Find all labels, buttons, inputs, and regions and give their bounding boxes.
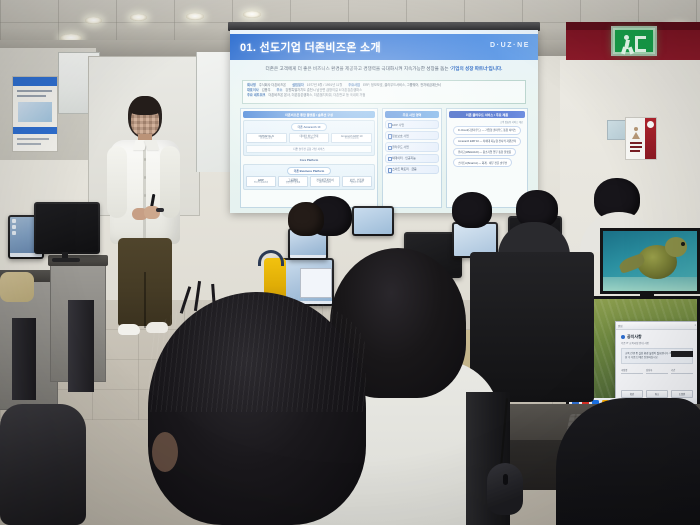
- ceiling-downlight: [85, 17, 102, 24]
- pill-sub: 전사적 자원관리: [332, 138, 371, 141]
- monitor-back-left-2: [34, 202, 100, 254]
- projection-screen: 01. 선도기업 더존비즈온 소개 D·UZ·NE 더존은 고객에게 더 좋은 …: [230, 30, 538, 213]
- douzone-logo: D·UZ·NE: [490, 42, 530, 49]
- panel-business-header: 주요 사업 영역: [385, 111, 439, 118]
- monitor-base: [52, 258, 80, 262]
- shirt-button: [144, 194, 147, 197]
- panel-cloud-header: 더존 클라우드 서비스 / 주요 제품: [449, 111, 525, 118]
- cloud-product-bubble: Amaranth ERP 10 — 차세대 지능형 전사적 자원관리: [453, 137, 521, 146]
- exit-icon: [615, 30, 653, 52]
- poster-text-line: [17, 95, 46, 97]
- dialog-heading: 공지사항: [621, 334, 698, 340]
- business-area-item: 클라우드 사업: [385, 142, 439, 151]
- company-info-table: 회사명 주식회사 더존비즈온 설립일자 1977년 8월 / 1991년 11월…: [242, 80, 526, 104]
- business-platform-group: 더존 Business Platform ERP 전사적 자원관리 그룹웨어 협…: [243, 164, 375, 190]
- presenter-right-arm: [160, 146, 180, 218]
- ceiling-downlight: [130, 14, 147, 21]
- presenter-wristwatch: [156, 208, 164, 212]
- poster-figure-head: [634, 127, 638, 131]
- platform-pill: 데이터 허브 연계 데이터 통합: [289, 133, 330, 144]
- hair-texture: [148, 292, 366, 412]
- info-cell: 주요 네트워크 더존비즈온 본사, 더존강촌캠퍼스, 더존을지타워, 더존판교 …: [247, 93, 365, 98]
- platform-core-oval: 더존 Amaranth 10: [291, 123, 328, 131]
- turtle-eye: [681, 242, 685, 246]
- poster-header-band: [13, 77, 57, 86]
- pill-sub: 데이터 통합: [290, 138, 329, 141]
- turtle-head: [665, 237, 687, 257]
- platform-pill: OMNIEYE AI 인공지능 분석: [246, 133, 287, 144]
- monitor-mid-6: [352, 206, 394, 236]
- business-pill: 그룹웨어 협업 업무 플랫폼: [278, 176, 308, 187]
- business-area-item: 스마트 팩토리 · 금융: [385, 165, 439, 174]
- poster-text-line: [630, 150, 640, 152]
- ceiling-downlight: [186, 13, 204, 20]
- dialog-field-row: 과정명 담당자 기간: [621, 368, 693, 374]
- student-head: [288, 202, 324, 236]
- slide-panels: 더존비즈온 통합 플랫폼 / 솔루션 구성 더존 Amaranth 10 OMN…: [240, 108, 528, 208]
- business-area-item: ERP 사업: [385, 120, 439, 129]
- business-area-item: 빅데이터 · 인공지능: [385, 154, 439, 163]
- dialog-title-text: 알림: [618, 324, 622, 328]
- dialog-button-row: 확인 취소 도움말: [621, 390, 693, 398]
- poster-logo-dot: [647, 121, 654, 128]
- poster-text-line: [17, 138, 49, 140]
- dialog-field: 담당자: [646, 368, 668, 374]
- dialog-help-button[interactable]: 도움말: [671, 390, 693, 398]
- dialog-field: 과정명: [621, 368, 643, 374]
- dialog-confirm-button[interactable]: 확인: [621, 390, 643, 398]
- info-key: 주요 네트워크: [247, 93, 265, 98]
- poster-text-line: [630, 146, 642, 148]
- cloud-arrow-note: 고객 맞춤형 서비스 제공: [449, 120, 525, 124]
- desktop-icon[interactable]: [12, 225, 16, 229]
- pill-sub: 인공지능 분석: [247, 138, 286, 141]
- platform-core-group: 더존 Amaranth 10 OMNIEYE AI 인공지능 분석 데이터 허브…: [243, 120, 375, 156]
- monitor-screen: [36, 204, 98, 252]
- business-pill-row: ERP 전사적 자원관리 그룹웨어 협업 업무 플랫폼 전자세금계산서 세무 전…: [246, 176, 372, 187]
- computer-mouse[interactable]: [487, 463, 523, 515]
- pill-sub: 협업 업무 플랫폼: [279, 182, 307, 185]
- platform-pill: Amaranth ERP 10 전사적 자원관리: [331, 133, 372, 144]
- business-platform-oval: 더존 Business Platform: [287, 167, 331, 175]
- desktop-icon-group: [12, 219, 16, 235]
- pc-tower: [68, 300, 94, 392]
- monitor-turtle-wallpaper: [600, 228, 700, 294]
- ear: [152, 432, 178, 472]
- close-icon[interactable]: ×: [695, 324, 696, 327]
- info-row: 주요 네트워크 더존비즈온 본사, 더존강촌캠퍼스, 더존을지타워, 더존판교 …: [247, 93, 521, 98]
- shirt-button: [144, 158, 147, 161]
- poster-text-line: [630, 142, 642, 144]
- dialog-titlebar: 알림 ×: [616, 322, 698, 330]
- pill-sub: 클라우드 보안: [343, 182, 371, 185]
- dialog-field: 기간: [671, 368, 693, 374]
- slide-lead-part-a: 더존은 고객에게 더 좋은 비즈니스 환경을 제공하고 경쟁력을 극대화시켜 지…: [266, 66, 450, 71]
- classroom-photo: 01. 선도기업 더존비즈온 소개 D·UZ·NE 더존은 고객에게 더 좋은 …: [0, 0, 700, 525]
- notice-poster: [12, 76, 58, 152]
- pill-sub: 세무 전자문서: [311, 182, 339, 185]
- slide-lead-highlight: '기업의 성장 파트너'입니다.: [450, 66, 503, 71]
- slide-title-bar: 01. 선도기업 더존비즈온 소개 D·UZ·NE: [230, 34, 538, 60]
- info-value: ERP, 정보보호, 클라우드서비스, 그룹웨어, 전자세금계산서: [363, 83, 441, 88]
- notice-dialog-window[interactable]: 알림 × 공지사항 더존 IT 교육과정 안내 사항 교육 진행 중 실습 환경…: [615, 321, 699, 403]
- presentation-slide: 01. 선도기업 더존비즈온 소개 D·UZ·NE 더존은 고객에게 더 좋은 …: [230, 30, 538, 213]
- safety-poster: [625, 117, 657, 160]
- info-value: 더존비즈온 본사, 더존강촌캠퍼스, 더존을지타워, 더존판교 등 국내외 거점: [268, 93, 365, 98]
- cloud-product-bubble: 위하고(WEHAGO) — 중소기업 업무 통합 플랫폼: [453, 148, 516, 157]
- cloud-product-bubble: 스마트A(Smart A) — 회계 · 세무 전문 솔루션: [453, 158, 512, 167]
- presenter-head: [128, 96, 162, 138]
- presenter-shoe-left: [118, 324, 140, 335]
- emergency-exit-sign: [611, 26, 657, 56]
- person-foreground-right: [556, 398, 700, 525]
- platform-common-bar: 더존 솔루션 공통 기반 서비스: [246, 145, 372, 153]
- panel-business-areas: 주요 사업 영역 ERP 사업 정보보호 사업 클라우드 사업 빅데이터 · 인…: [382, 108, 442, 208]
- platform-core-caption: Core Platform: [243, 158, 375, 162]
- desktop-icon[interactable]: [12, 219, 16, 223]
- presenter-left-arm: [107, 146, 127, 218]
- cloud-product-bubble: D-Cloud(디클라우드) — 기업형 클라우드 통합 서비스: [453, 126, 521, 135]
- backpack: [0, 404, 86, 525]
- poster-text-line: [17, 90, 52, 92]
- dialog-cancel-button[interactable]: 취소: [646, 390, 668, 398]
- panel-cloud-products: 더존 클라우드 서비스 / 주요 제품 고객 맞춤형 서비스 제공 D-Clou…: [446, 108, 528, 208]
- business-pill: 보안 · 인프라 클라우드 보안: [342, 176, 372, 187]
- platform-pill-row: OMNIEYE AI 인공지능 분석 데이터 허브 연계 데이터 통합 Amar…: [246, 133, 372, 144]
- poster-text-line: [17, 143, 41, 145]
- slide-title: 01. 선도기업 더존비즈온 소개: [240, 39, 381, 55]
- monitor-foreground: [470, 252, 594, 402]
- panel-platform-header: 더존비즈온 통합 플랫폼 / 솔루션 구성: [243, 111, 375, 118]
- poster-figure-body: [632, 132, 640, 139]
- shirt-button: [144, 176, 147, 179]
- screen-selection-box: [671, 351, 693, 357]
- business-pill: 전자세금계산서 세무 전자문서: [310, 176, 340, 187]
- taskbar[interactable]: [290, 255, 326, 258]
- presenter-hair: [128, 96, 162, 115]
- pill-sub: 전사적 자원관리: [247, 182, 275, 185]
- monitor-screen: [354, 208, 392, 234]
- mouse-scroll-wheel[interactable]: [503, 474, 508, 485]
- ceiling-downlight: [243, 11, 261, 18]
- student-head: [452, 192, 492, 228]
- pc-tower: [12, 318, 36, 400]
- desk-chair-left: [0, 272, 34, 302]
- app-window[interactable]: [300, 268, 332, 298]
- business-pill: ERP 전사적 자원관리: [246, 176, 276, 187]
- slide-lead-text: 더존은 고객에게 더 좋은 비즈니스 환경을 제공하고 경쟁력을 극대화시켜 지…: [244, 66, 524, 73]
- poster-footer-band: [13, 127, 57, 134]
- panel-platform: 더존비즈온 통합 플랫폼 / 솔루션 구성 더존 Amaranth 10 OMN…: [240, 108, 378, 208]
- trouser-seam: [144, 272, 146, 328]
- dialog-subtitle: 더존 IT 교육과정 안내 사항: [621, 341, 693, 345]
- business-area-item: 정보보호 사업: [385, 131, 439, 140]
- presenter-shirt-placket: [143, 142, 146, 240]
- poster-image: [18, 102, 52, 122]
- info-cell: 주요사업 ERP, 정보보호, 클라우드서비스, 그룹웨어, 전자세금계산서: [348, 83, 440, 88]
- wallpaper-seafloor: [603, 277, 697, 291]
- desktop-icon[interactable]: [12, 231, 16, 235]
